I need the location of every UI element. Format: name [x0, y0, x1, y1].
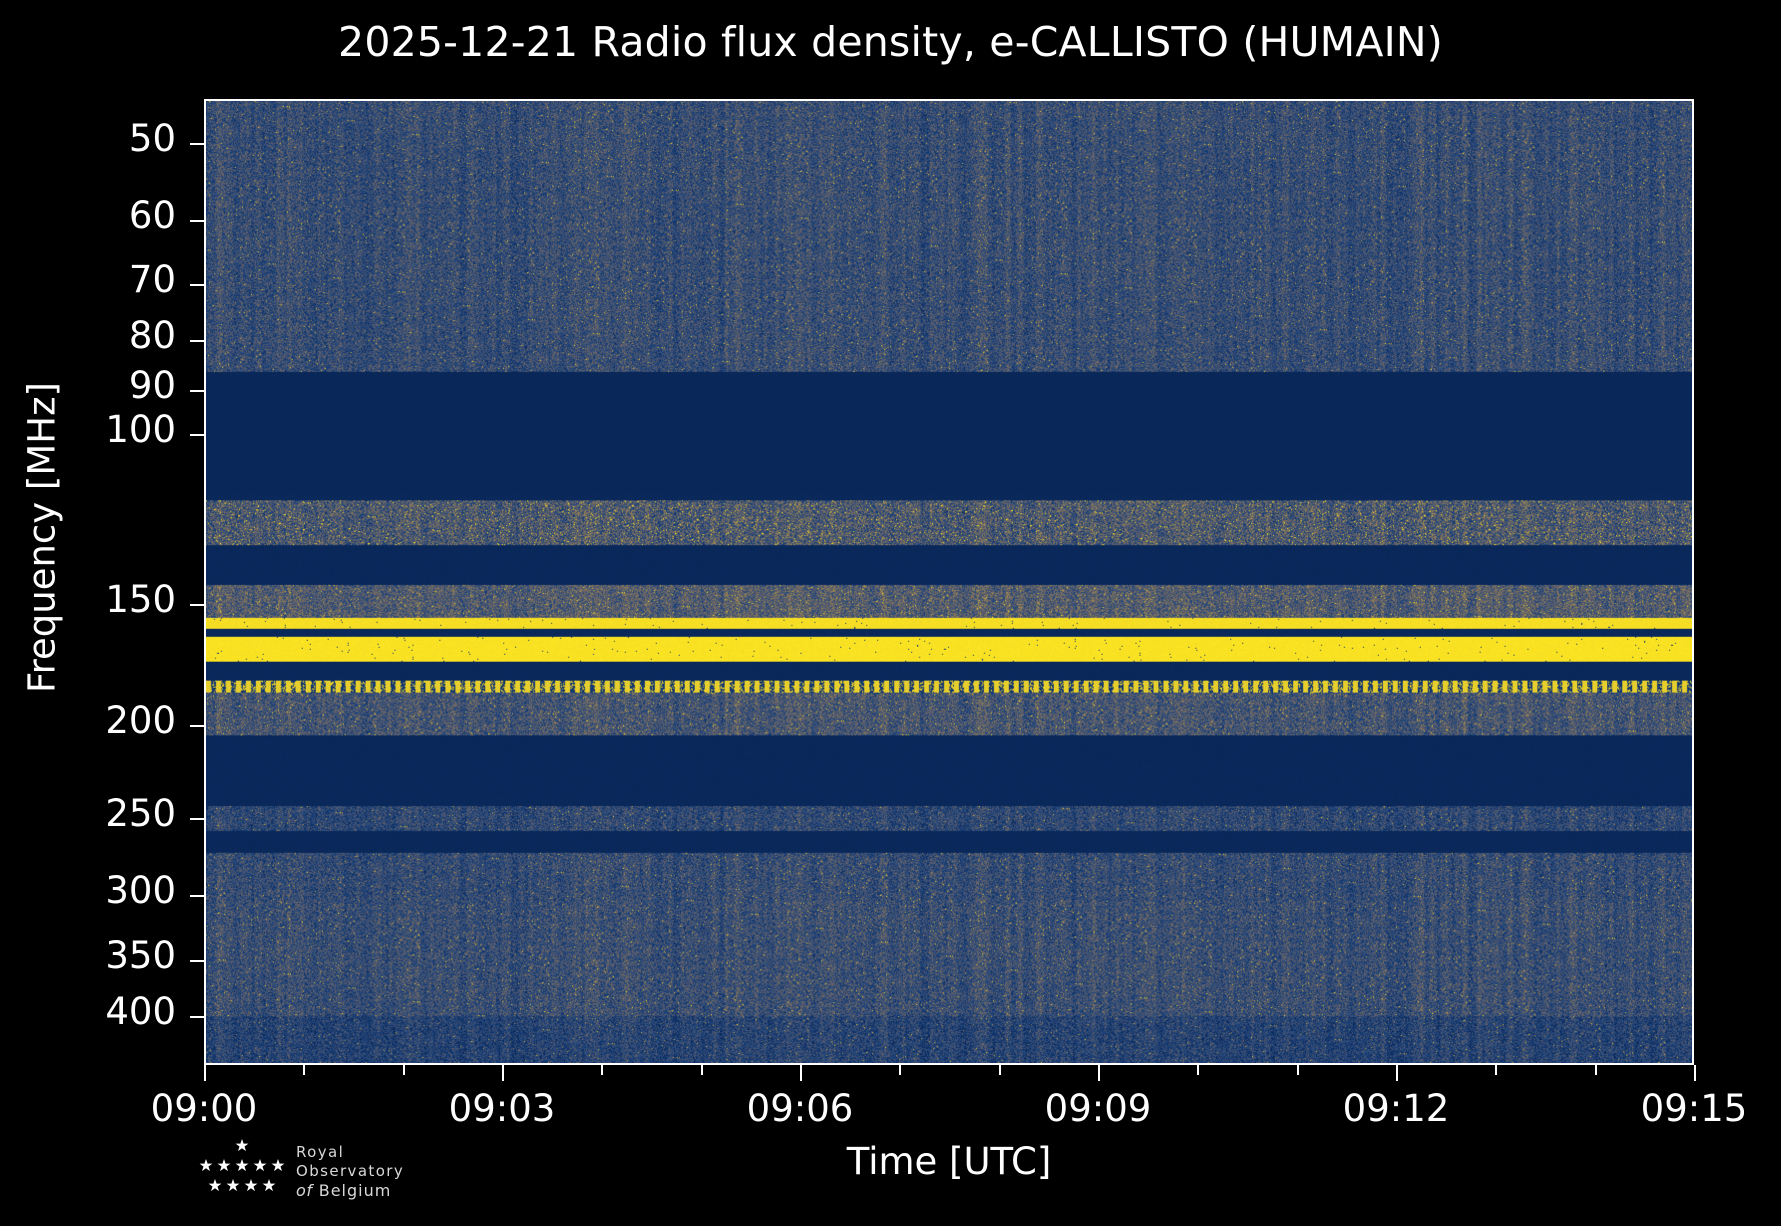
y-tick-60 — [190, 220, 206, 222]
y-tick-label-400: 400 — [105, 990, 176, 1033]
x-minor-tick-2 — [403, 1065, 405, 1075]
x-tick-0906 — [800, 1065, 802, 1081]
logo-line-2: of Belgium — [296, 1181, 446, 1201]
x-minor-tick-4 — [601, 1065, 603, 1075]
y-tick-label-70: 70 — [129, 258, 176, 301]
logo-line-1: Royal Observatory — [296, 1143, 446, 1181]
y-tick-label-250: 250 — [105, 792, 176, 835]
x-tick-label-0915: 09:15 — [1641, 1087, 1748, 1130]
y-axis-label: Frequency [MHz] — [21, 188, 64, 888]
x-tick-0903 — [502, 1065, 504, 1081]
y-tick-80 — [190, 340, 206, 342]
x-tick-0909 — [1098, 1065, 1100, 1081]
y-tick-label-300: 300 — [105, 869, 176, 912]
spectrogram-axes[interactable] — [204, 99, 1694, 1065]
x-tick-label-0900: 09:00 — [151, 1087, 258, 1130]
x-tick-label-0912: 09:12 — [1343, 1087, 1450, 1130]
y-tick-400 — [190, 1016, 206, 1018]
x-tick-0915 — [1694, 1065, 1696, 1081]
y-tick-label-50: 50 — [129, 117, 176, 160]
y-tick-350 — [190, 960, 206, 962]
x-minor-tick-11 — [1297, 1065, 1299, 1075]
y-tick-label-350: 350 — [105, 934, 176, 977]
x-minor-tick-1 — [303, 1065, 305, 1075]
y-tick-70 — [190, 284, 206, 286]
x-minor-tick-5 — [701, 1065, 703, 1075]
y-tick-300 — [190, 895, 206, 897]
x-minor-tick-13 — [1495, 1065, 1497, 1075]
x-minor-tick-10 — [1197, 1065, 1199, 1075]
y-tick-label-60: 60 — [129, 194, 176, 237]
x-tick-0900 — [204, 1065, 206, 1081]
y-tick-90 — [190, 390, 206, 392]
y-tick-200 — [190, 725, 206, 727]
x-minor-tick-14 — [1595, 1065, 1597, 1075]
chart-title: 2025-12-21 Radio flux density, e-CALLIST… — [0, 18, 1781, 66]
y-tick-label-150: 150 — [105, 578, 176, 621]
y-tick-label-80: 80 — [129, 314, 176, 357]
x-tick-0912 — [1396, 1065, 1398, 1081]
x-tick-label-0906: 09:06 — [747, 1087, 854, 1130]
y-tick-50 — [190, 143, 206, 145]
y-tick-150 — [190, 604, 206, 606]
logo-belgium-word: Belgium — [319, 1181, 392, 1200]
x-tick-label-0903: 09:03 — [449, 1087, 556, 1130]
y-tick-label-100: 100 — [105, 408, 176, 451]
logo-text: Royal Observatory of Belgium — [296, 1143, 446, 1202]
eu-stars-icon — [196, 1137, 288, 1195]
figure-canvas: 2025-12-21 Radio flux density, e-CALLIST… — [0, 0, 1781, 1226]
y-tick-100 — [190, 434, 206, 436]
y-tick-250 — [190, 818, 206, 820]
x-minor-tick-7 — [899, 1065, 901, 1075]
logo-of-word: of — [296, 1181, 313, 1200]
spectrogram-image — [206, 101, 1692, 1063]
y-tick-label-200: 200 — [105, 699, 176, 742]
x-tick-label-0909: 09:09 — [1045, 1087, 1152, 1130]
royal-observatory-logo: Royal Observatory of Belgium — [196, 1137, 446, 1207]
y-tick-label-90: 90 — [129, 364, 176, 407]
x-minor-tick-8 — [999, 1065, 1001, 1075]
